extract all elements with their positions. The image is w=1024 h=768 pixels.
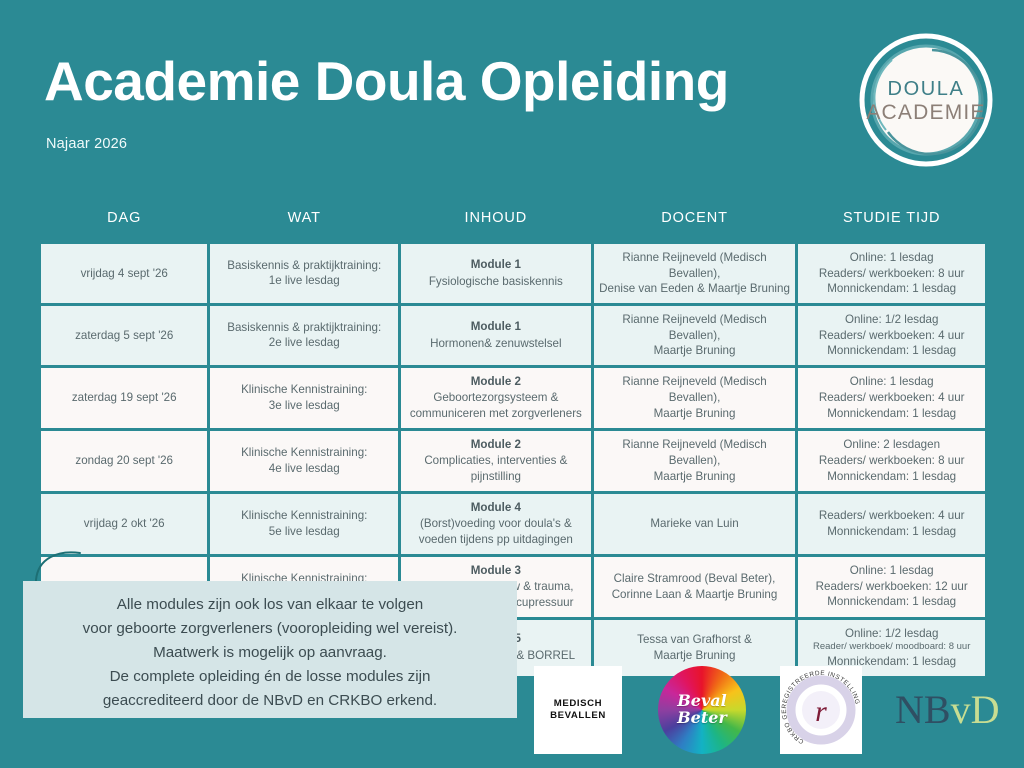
docent-line: Claire Stramrood (Beval Beter), [599, 571, 791, 587]
cell-docent: Rianne Reijneveld (Medisch Bevallen), Ma… [594, 306, 796, 365]
inhoud-line: Fysiologische basiskennis [406, 274, 586, 290]
note-line: De complete opleiding én de losse module… [37, 665, 503, 689]
table-header-row: DAG WAT INHOUD DOCENT STUDIE TIJD [41, 195, 985, 241]
logo-line-1: DOULA [888, 78, 965, 100]
cell-dag: zaterdag 19 sept '26 [41, 368, 207, 428]
cell-dag: vrijdag 4 sept '26 [41, 244, 207, 303]
studie-line: Monnickendam: 1 lesdag [803, 406, 980, 422]
inhoud-line: (Borst)voeding voor doula's & [406, 516, 586, 532]
docent-line: Rianne Reijneveld (Medisch Bevallen), [599, 437, 791, 468]
note-line: voor geboorte zorgverleners (vooropleidi… [37, 617, 503, 641]
wat-line: 4e live lesdag [215, 461, 393, 477]
column-header-dag: DAG [41, 195, 207, 241]
module-label: Module 3 [406, 563, 586, 579]
wat-line: Klinische Kennistraining: [215, 508, 393, 524]
column-header-studie-tijd: STUDIE TIJD [798, 195, 985, 241]
inhoud-line: Geboortezorgsysteem & [406, 390, 586, 406]
module-label: Module 1 [406, 257, 586, 273]
studie-line: Monnickendam: 1 lesdag [803, 524, 980, 540]
cell-inhoud: Module 2 Complicaties, interventies & pi… [401, 431, 591, 491]
cell-inhoud: Module 1 Hormonen& zenuwstelsel [401, 306, 591, 365]
docent-line: Denise van Eeden & Maartje Bruning [599, 281, 791, 297]
wat-line: 5e live lesdag [215, 524, 393, 540]
table-row: vrijdag 2 okt '26 Klinische Kennistraini… [41, 494, 985, 554]
studie-line: Readers/ werkboeken: 8 uur [803, 453, 980, 469]
studie-line: Online: 1/2 lesdag [803, 626, 980, 642]
medisch-bevallen-line-1: MEDISCH [550, 698, 606, 710]
page-title: Academie Doula Opleiding [44, 54, 729, 109]
note-line: Alle modules zijn ook los van elkaar te … [37, 593, 503, 617]
table-row: vrijdag 4 sept '26 Basiskennis & praktij… [41, 244, 985, 303]
cell-inhoud: Module 4 (Borst)voeding voor doula's & v… [401, 494, 591, 554]
module-label: Module 2 [406, 374, 586, 390]
wat-line: Basiskennis & praktijktraining: [215, 320, 393, 336]
studie-line: Monnickendam: 1 lesdag [803, 594, 980, 610]
docent-line: Maartje Bruning [599, 469, 791, 485]
beval-beter-line-2: Beter [677, 710, 727, 727]
column-header-inhoud: INHOUD [401, 195, 591, 241]
nbvd-part-3: v [951, 687, 971, 732]
nbvd-part-4: D [971, 687, 1000, 732]
cell-docent: Marieke van Luin [594, 494, 796, 554]
cell-studie-tijd: Online: 1 lesdag Readers/ werkboeken: 8 … [798, 244, 985, 303]
cell-studie-tijd: Online: 2 lesdagen Readers/ werkboeken: … [798, 431, 985, 491]
docent-line: Rianne Reijneveld (Medisch Bevallen), [599, 374, 791, 405]
cell-dag: vrijdag 2 okt '26 [41, 494, 207, 554]
studie-line: Monnickendam: 1 lesdag [803, 343, 980, 359]
wat-line: 1e live lesdag [215, 273, 393, 289]
cell-studie-tijd: Online: 1 lesdag Readers/ werkboeken: 12… [798, 557, 985, 617]
docent-line: Maartje Bruning [599, 343, 791, 359]
cell-inhoud: Module 1 Fysiologische basiskennis [401, 244, 591, 303]
cell-wat: Klinische Kennistraining: 3e live lesdag [210, 368, 398, 428]
studie-line: Monnickendam: 1 lesdag [803, 281, 980, 297]
docent-line: Rianne Reijneveld (Medisch Bevallen), [599, 312, 791, 343]
cell-docent: Rianne Reijneveld (Medisch Bevallen), De… [594, 244, 796, 303]
docent-line: Tessa van Grafhorst & [599, 632, 791, 648]
docent-line: Maartje Bruning [599, 406, 791, 422]
studie-line: Online: 1 lesdag [803, 563, 980, 579]
table-row: zondag 20 sept '26 Klinische Kennistrain… [41, 431, 985, 491]
docent-line: Rianne Reijneveld (Medisch Bevallen), [599, 250, 791, 281]
inhoud-line: pijnstilling [406, 469, 586, 485]
docent-line: Corinne Laan & Maartje Bruning [599, 587, 791, 603]
docent-line: Maartje Bruning [599, 648, 791, 664]
studie-line: Monnickendam: 1 lesdag [803, 469, 980, 485]
cell-wat: Klinische Kennistraining: 4e live lesdag [210, 431, 398, 491]
nbvd-logo: NBvD [895, 686, 999, 733]
nbvd-part-2: B [924, 687, 951, 732]
table-row: zaterdag 19 sept '26 Klinische Kennistra… [41, 368, 985, 428]
cell-studie-tijd: Online: 1 lesdag Readers/ werkboeken: 4 … [798, 368, 985, 428]
studie-line: Readers/ werkboeken: 4 uur [803, 508, 980, 524]
studie-line: Reader/ werkboek/ moodboard: 8 uur [803, 641, 980, 654]
wat-line: Klinische Kennistraining: [215, 382, 393, 398]
cell-docent: Rianne Reijneveld (Medisch Bevallen), Ma… [594, 431, 796, 491]
studie-line: Online: 1 lesdag [803, 374, 980, 390]
cell-dag: zondag 20 sept '26 [41, 431, 207, 491]
crkbo-letter: r [815, 695, 827, 728]
cell-dag: zaterdag 5 sept '26 [41, 306, 207, 365]
studie-line: Readers/ werkboeken: 8 uur [803, 266, 980, 282]
crkbo-logo: r CRKBO GEREGISTREERDE INSTELLING [780, 666, 862, 754]
inhoud-line: Complicaties, interventies & [406, 453, 586, 469]
docent-line: Marieke van Luin [599, 516, 791, 532]
doula-academie-logo: DOULA ACADEMIE [858, 32, 994, 168]
cell-studie-tijd: Readers/ werkboeken: 4 uur Monnickendam:… [798, 494, 985, 554]
note-line: Maatwerk is mogelijk op aanvraag. [37, 641, 503, 665]
table-row: zaterdag 5 sept '26 Basiskennis & prakti… [41, 306, 985, 365]
column-header-docent: DOCENT [594, 195, 796, 241]
wat-line: Basiskennis & praktijktraining: [215, 258, 393, 274]
page-subtitle: Najaar 2026 [46, 136, 127, 152]
studie-line: Readers/ werkboeken: 4 uur [803, 390, 980, 406]
cell-wat: Klinische Kennistraining: 5e live lesdag [210, 494, 398, 554]
studie-line: Online: 1/2 lesdag [803, 312, 980, 328]
wat-line: 3e live lesdag [215, 398, 393, 414]
nbvd-part-1: N [895, 687, 924, 732]
module-label: Module 2 [406, 437, 586, 453]
wat-line: 2e live lesdag [215, 335, 393, 351]
cell-inhoud: Module 2 Geboortezorgsysteem & communice… [401, 368, 591, 428]
cell-docent: Claire Stramrood (Beval Beter), Corinne … [594, 557, 796, 617]
medisch-bevallen-logo: MEDISCH BEVALLEN [534, 666, 622, 754]
cell-docent: Rianne Reijneveld (Medisch Bevallen), Ma… [594, 368, 796, 428]
cell-wat: Basiskennis & praktijktraining: 2e live … [210, 306, 398, 365]
inhoud-line: voeden tijdens pp uitdagingen [406, 532, 586, 548]
cell-wat: Basiskennis & praktijktraining: 1e live … [210, 244, 398, 303]
logo-line-2: ACADEMIE [866, 101, 985, 124]
studie-line: Readers/ werkboeken: 12 uur [803, 579, 980, 595]
beval-beter-logo: Beval Beter [658, 666, 746, 754]
studie-line: Readers/ werkboeken: 4 uur [803, 328, 980, 344]
medisch-bevallen-line-2: BEVALLEN [550, 710, 606, 722]
module-label: Module 1 [406, 319, 586, 335]
inhoud-line: communiceren met zorgverleners [406, 406, 586, 422]
note-box: Alle modules zijn ook los van elkaar te … [23, 581, 517, 718]
module-label: Module 4 [406, 500, 586, 516]
wat-line: Klinische Kennistraining: [215, 445, 393, 461]
note-line: geaccrediteerd door de NBvD en CRKBO erk… [37, 689, 503, 713]
studie-line: Online: 2 lesdagen [803, 437, 980, 453]
cell-studie-tijd: Online: 1/2 lesdag Readers/ werkboeken: … [798, 306, 985, 365]
studie-line: Online: 1 lesdag [803, 250, 980, 266]
column-header-wat: WAT [210, 195, 398, 241]
inhoud-line: Hormonen& zenuwstelsel [406, 336, 586, 352]
